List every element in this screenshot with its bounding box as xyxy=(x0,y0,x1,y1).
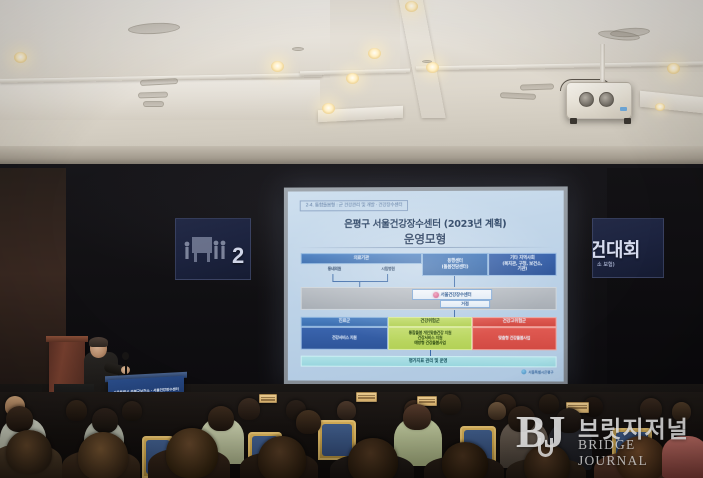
audience-head xyxy=(66,400,87,421)
diagram-box-bottom-1-sub: 건강서비스 지원 xyxy=(301,327,388,350)
presentation-slide: 2-4. 통합돌봄형 : 군 건강관리 및 개발 · 건강장수센터 은평구 서울… xyxy=(288,190,564,381)
slide-title: 은평구 서울건강장수센터 (2023년 계획) xyxy=(288,216,564,231)
ceiling-projector xyxy=(566,82,632,119)
diagram-box-top-3: 기타 지역사회 (복지관, 구청, 보건소, 기관) xyxy=(488,253,556,276)
ceiling xyxy=(0,0,703,152)
table-name-placard xyxy=(259,394,277,403)
center-chip-label: 서울건강장수센터 xyxy=(441,292,472,298)
diagram-connector xyxy=(454,310,455,317)
audience-head xyxy=(539,394,559,414)
diagram-box-bottom-2-title: 건강위험군 xyxy=(388,317,472,327)
ceiling-vent xyxy=(520,83,554,90)
audience-head xyxy=(78,432,128,478)
audience-head xyxy=(122,401,142,421)
podium-people-graphic-icon xyxy=(182,233,228,267)
audience-head xyxy=(296,410,321,434)
diagram-box-bottom-3-title: 건강고위험군 xyxy=(472,317,557,327)
audience-head xyxy=(6,406,33,432)
ceiling-vent xyxy=(292,47,304,51)
audience-head xyxy=(258,436,306,478)
conference-photo-scene: 2 건대회 소 보험) 2-4. 통합돌봄형 : 군 건강관리 및 개발 · 건… xyxy=(0,0,703,478)
back-banner-right: 건대회 소 보험) xyxy=(592,218,664,278)
back-banner-left-number: 2 xyxy=(232,243,243,269)
diagram-box-bottom-2-sub: 통합돌봄 개인맞춤건강 지원 건강서비스 지원 예방형 건강돌봄사업 xyxy=(388,327,472,350)
ceiling-beam xyxy=(640,91,703,114)
diagram-group-bottom-2: 건강위험군 통합돌봄 개인맞춤건강 지원 건강서비스 지원 예방형 건강돌봄사업 xyxy=(388,317,472,350)
right-wall-dark xyxy=(607,168,703,404)
diagram-connector xyxy=(454,276,455,287)
slide-subtitle: 운영모형 xyxy=(288,231,564,248)
audience-shoulders xyxy=(662,436,703,478)
audience-head xyxy=(208,406,234,431)
lectern-top xyxy=(46,336,88,342)
ceiling-vent xyxy=(422,60,432,63)
diagram-center-chip-sub: 거점 xyxy=(440,300,490,308)
microphone-head-icon xyxy=(122,352,129,360)
ceiling-panel xyxy=(400,0,703,72)
audience-head xyxy=(6,430,52,474)
ceiling-panel xyxy=(0,80,320,120)
ceiling-spotlight xyxy=(405,1,418,12)
audience-head xyxy=(238,398,260,420)
audience-head xyxy=(403,404,431,430)
presenter-hair xyxy=(89,337,108,347)
audience-head xyxy=(508,406,535,432)
chair-seat-pad xyxy=(322,424,352,456)
diagram-sublabel-1: 동네의원 xyxy=(309,266,361,272)
audience-head xyxy=(166,428,218,478)
slide-footer-logo: 서울특별시은평구 xyxy=(521,369,553,374)
back-banner-right-subtitle: 소 보험) xyxy=(597,261,615,268)
diagram-footer-band: 평가지표 관리 및 운영 xyxy=(301,356,557,368)
slide-divider xyxy=(298,247,554,248)
slide-section-tag: 2-4. 통합돌봄형 : 군 건강관리 및 개발 · 건강장수센터 xyxy=(300,200,409,211)
audience-area xyxy=(0,392,703,478)
ceiling-spotlight xyxy=(368,48,381,59)
diagram-box-bottom-3-sub: 맞춤형 건강돌봄사업 xyxy=(472,327,557,350)
ceiling-vent xyxy=(138,91,168,98)
center-chip-logo-icon xyxy=(433,292,439,298)
ceiling-vent xyxy=(500,92,536,100)
ceiling-spotlight xyxy=(667,63,680,74)
projector-indicator-icon xyxy=(620,107,627,111)
ceiling-spotlight xyxy=(655,103,665,111)
ceiling-spotlight xyxy=(271,61,284,72)
table-name-placard xyxy=(356,392,377,402)
projector-foot xyxy=(570,118,577,124)
audience-head xyxy=(348,438,398,478)
audience-head xyxy=(640,398,662,420)
diagram-group-bottom-1: 진료군 건강서비스 지원 xyxy=(301,317,388,350)
back-banner-right-title: 건대회 xyxy=(592,235,640,262)
diagram-box-top-2: 동행센터 (돌봄전담센터) xyxy=(422,253,488,276)
audience-head xyxy=(337,401,356,420)
ceiling-spotlight xyxy=(346,73,359,84)
diagram-box-top-1: 의료기관 xyxy=(301,253,422,264)
ceiling-spotlight xyxy=(426,62,439,73)
audience-head xyxy=(616,436,666,478)
diagram-connector xyxy=(332,281,388,282)
slide-logo-text: 서울특별시은평구 xyxy=(528,369,553,374)
projector-lens-icon xyxy=(599,92,614,107)
audience-head xyxy=(92,408,118,433)
back-banner-left: 2 xyxy=(175,218,251,280)
projector-lens-icon xyxy=(579,92,594,107)
ceiling-spotlight xyxy=(322,103,335,114)
projection-screen: 2-4. 통합돌봄형 : 군 건강관리 및 개발 · 건강장수센터 은평구 서울… xyxy=(284,186,568,386)
audience-head xyxy=(440,394,461,415)
audience-head xyxy=(672,402,691,421)
diagram-box-bottom-1-title: 진료군 xyxy=(301,317,388,327)
ceiling-vent xyxy=(143,101,164,107)
audience-head xyxy=(442,442,488,478)
diagram-sublabel-2: 시립병원 xyxy=(362,266,414,272)
projector-foot xyxy=(624,118,631,124)
audience-head xyxy=(556,408,582,433)
projector-mount-pole xyxy=(600,44,605,82)
audience-head xyxy=(488,402,506,420)
slide-diagram: 의료기관 동행센터 (돌봄전담센터) 기타 지역사회 (복지관, 구청, 보건소… xyxy=(301,253,551,374)
slide-logo-icon xyxy=(521,369,526,374)
diagram-group-bottom-3: 건강고위험군 맞춤형 건강돌봄사업 xyxy=(472,317,557,350)
diagram-center-chip: 서울건강장수센터 xyxy=(412,289,492,300)
ceiling-spotlight xyxy=(14,52,27,63)
audience-head xyxy=(524,444,570,478)
